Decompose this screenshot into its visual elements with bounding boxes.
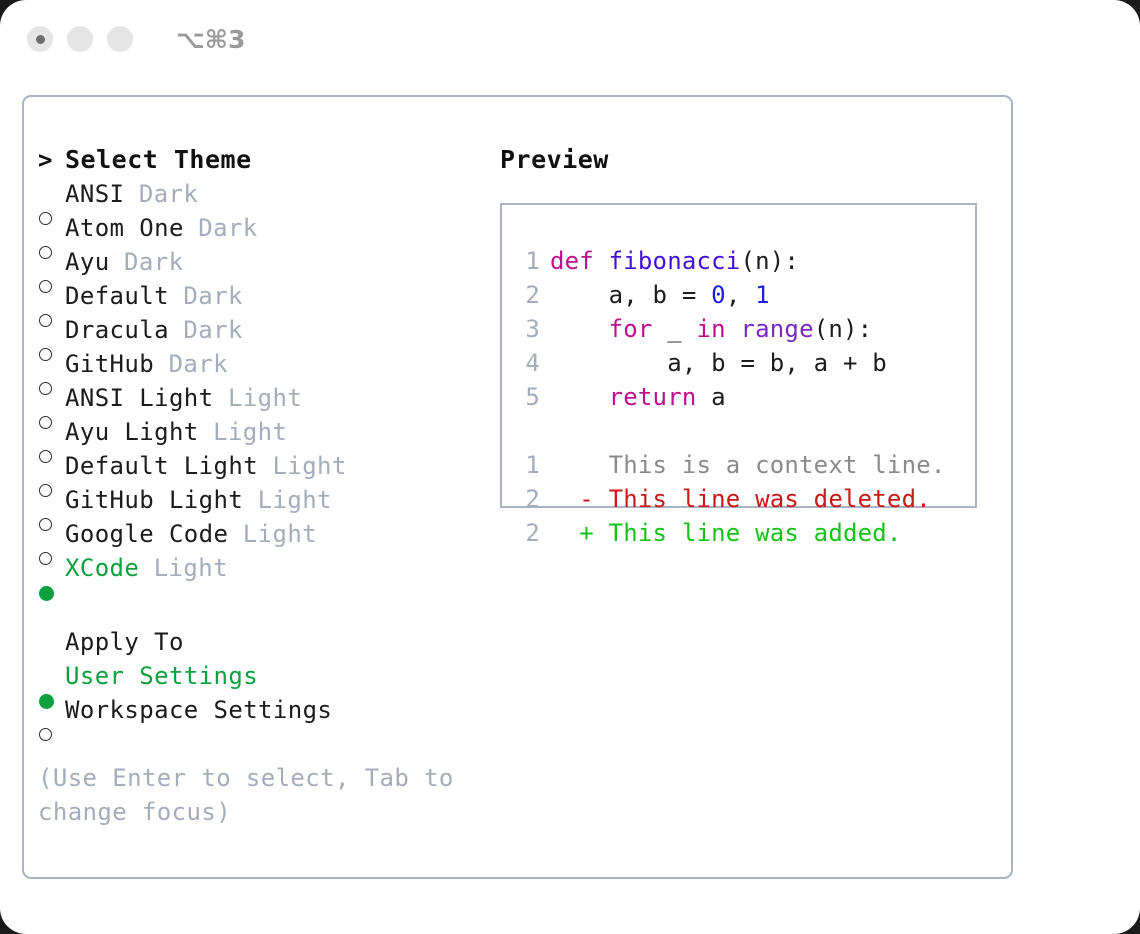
title-bar: ⌥⌘3 [0,0,1140,78]
diff-line-number: 2 [514,482,540,516]
code-line: 2 a, b = 0, 1 [514,278,974,312]
apply-to-option[interactable]: User Settings [38,659,478,693]
theme-list-item[interactable]: XCode Light [38,551,478,585]
theme-list-item[interactable]: Google Code Light [38,517,478,551]
code-token-kw: return [609,383,697,411]
close-dot-icon [36,35,45,44]
main-panel: > Select Theme ANSI DarkAtom One DarkAyu… [22,95,1013,879]
apply-to-section: Apply To User SettingsWorkspace Settings [38,625,478,727]
theme-list-item[interactable]: GitHub Light Light [38,483,478,517]
theme-name: Default [65,279,169,313]
code-token-plain: _ [653,315,697,343]
preview-title: Preview [500,143,1000,177]
theme-selector: > Select Theme ANSI DarkAtom One DarkAyu… [38,143,478,585]
theme-kind-badge: Light [243,517,317,551]
apply-to-option[interactable]: Workspace Settings [38,693,478,727]
code-token-plain [550,383,609,411]
panel-columns: > Select Theme ANSI DarkAtom One DarkAyu… [24,97,1011,877]
theme-list-item[interactable]: Dracula Dark [38,313,478,347]
maximize-button[interactable] [107,26,133,52]
keyboard-shortcut-label: ⌥⌘3 [176,27,245,52]
code-token-plain: (n): [814,315,873,343]
theme-kind-badge: Light [258,483,332,517]
code-line-content: for _ in range(n): [550,315,872,343]
code-token-fn: fibonacci [609,247,741,275]
code-token-kw: def [550,247,609,275]
theme-list-item[interactable]: Atom One Dark [38,211,478,245]
theme-kind-badge: Light [154,551,228,585]
keyboard-hint-text: (Use Enter to select, Tab to change focu… [38,761,458,829]
code-token-plain: a, b = [550,281,711,309]
theme-name: ANSI Light [65,381,214,415]
minimize-button[interactable] [67,26,93,52]
theme-kind-badge: Dark [198,211,257,245]
code-token-kw: in [697,315,726,343]
theme-list-item[interactable]: Default Light Light [38,449,478,483]
code-token-plain: a, b = b, a + b [550,349,887,377]
code-token-plain: , [726,281,755,309]
theme-name: Default Light [65,449,258,483]
diff-line: 1 This is a context line. [514,448,974,482]
code-line: 5 return a [514,380,974,414]
line-number: 4 [514,346,540,380]
diff-line-content: - This line was deleted. [550,485,931,513]
theme-name: Dracula [65,313,169,347]
diff-line-number: 1 [514,448,540,482]
select-theme-heading: > Select Theme [38,143,478,177]
theme-name: GitHub [65,347,154,381]
theme-kind-badge: Light [273,449,347,483]
diff-line-number: 2 [514,516,540,550]
code-token-plain: a [697,383,726,411]
code-token-builtin: range [740,315,813,343]
code-line-content: def fibonacci(n): [550,247,799,275]
theme-name: Ayu Light [65,415,199,449]
theme-name: ANSI [65,177,124,211]
theme-list-item[interactable]: ANSI Light Light [38,381,478,415]
code-line-content: a, b = b, a + b [550,349,887,377]
theme-kind-badge: Light [228,381,302,415]
code-line-content: a, b = 0, 1 [550,281,770,309]
theme-name: Ayu [65,245,110,279]
theme-kind-badge: Dark [183,279,242,313]
close-button[interactable] [27,26,53,52]
code-token-num: 0 [711,281,726,309]
code-token-kw: for [609,315,653,343]
code-token-num: 1 [755,281,770,309]
line-number: 3 [514,312,540,346]
apply-to-options: User SettingsWorkspace Settings [38,659,478,727]
line-number: 2 [514,278,540,312]
diff-line-content: + This line was added. [550,519,902,547]
diff-sample: 1 This is a context line.2 - This line w… [514,448,974,550]
diff-line-content: This is a context line. [550,451,946,479]
theme-kind-badge: Dark [124,245,183,279]
theme-kind-badge: Dark [183,313,242,347]
theme-kind-badge: Light [213,415,287,449]
code-token-plain [726,315,741,343]
line-number: 5 [514,380,540,414]
app-window: ⌥⌘3 > Select Theme ANSI DarkAtom One Dar… [0,0,1140,934]
apply-to-option-label: Workspace Settings [65,693,332,727]
preview-box: 1def fibonacci(n):2 a, b = 0, 13 for _ i… [500,203,977,508]
code-line: 3 for _ in range(n): [514,312,974,346]
theme-name: Google Code [65,517,228,551]
preview-section: Preview [500,143,1000,177]
apply-to-option-label: User Settings [65,659,258,693]
theme-name: GitHub Light [65,483,243,517]
diff-line: 2 - This line was deleted. [514,482,974,516]
theme-list-item[interactable]: GitHub Dark [38,347,478,381]
theme-name: Atom One [65,211,184,245]
apply-to-label: Apply To [38,625,478,659]
code-sample: 1def fibonacci(n):2 a, b = 0, 13 for _ i… [514,244,974,414]
theme-list-item[interactable]: Ayu Dark [38,245,478,279]
line-number: 1 [514,244,540,278]
code-token-plain [550,315,609,343]
theme-list: ANSI DarkAtom One DarkAyu DarkDefault Da… [38,177,478,585]
code-line: 1def fibonacci(n): [514,244,974,278]
theme-list-item[interactable]: Default Dark [38,279,478,313]
theme-kind-badge: Dark [169,347,228,381]
diff-line: 2 + This line was added. [514,516,974,550]
theme-kind-badge: Dark [139,177,198,211]
code-token-plain: (n): [740,247,799,275]
caret-icon: > [38,143,65,177]
theme-list-item[interactable]: ANSI Dark [38,177,478,211]
theme-name: XCode [65,551,139,585]
select-theme-title: Select Theme [65,143,252,177]
code-line: 4 a, b = b, a + b [514,346,974,380]
code-line-content: return a [550,383,726,411]
theme-list-item[interactable]: Ayu Light Light [38,415,478,449]
